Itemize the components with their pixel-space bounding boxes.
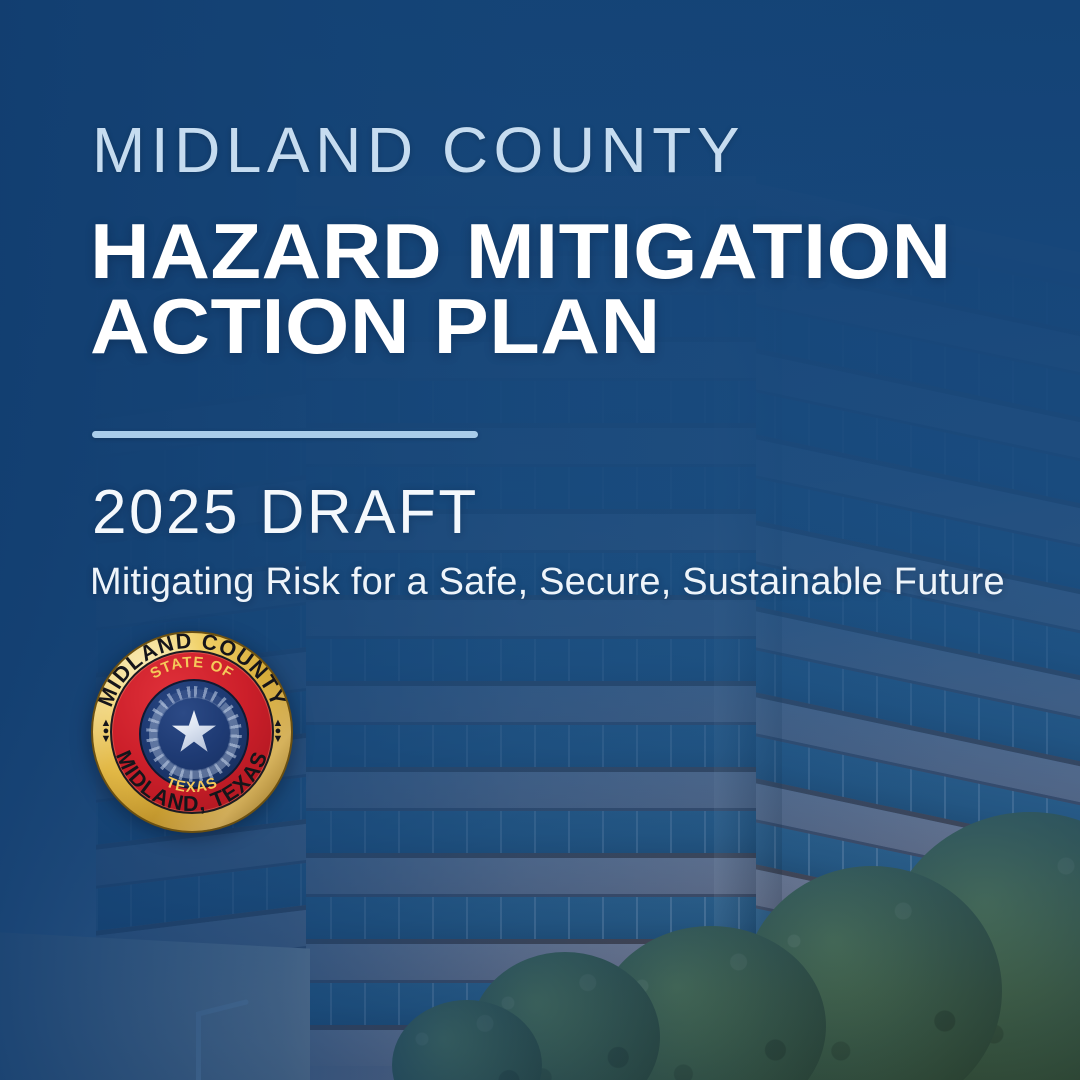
midland-county-seal: MIDLAND COUNTY MIDLAND, TEXAS STATE OF T…	[91, 631, 293, 833]
tagline: Mitigating Risk for a Safe, Secure, Sust…	[90, 562, 1005, 604]
document-cover-page: MIDLAND COUNTY COURTHOUSE MIDLAND COUNTY…	[0, 0, 1080, 1080]
accent-divider-rule	[92, 431, 478, 438]
seal-inner-ring-text: STATE OF TEXAS	[91, 631, 293, 833]
page-title: HAZARD MITIGATION ACTION PLAN	[90, 214, 1076, 364]
page-title-line-2: ACTION PLAN	[90, 289, 1076, 364]
edition-label: 2025 DRAFT	[92, 482, 479, 544]
seal-inner-bottom-label: TEXAS	[164, 774, 221, 796]
seal-inner-top-label: STATE OF	[147, 654, 236, 683]
seal-ornament-left-icon: ▲●▼	[99, 719, 113, 745]
seal-inner-bottom-textpath: TEXAS	[164, 774, 221, 796]
seal-ornament-right-icon: ▲●▼	[271, 719, 285, 745]
cover-text-block: MIDLAND COUNTY HAZARD MITIGATION ACTION …	[0, 0, 1080, 1080]
seal-inner-top-textpath: STATE OF	[147, 654, 236, 683]
county-name-eyebrow: MIDLAND COUNTY	[92, 118, 745, 182]
